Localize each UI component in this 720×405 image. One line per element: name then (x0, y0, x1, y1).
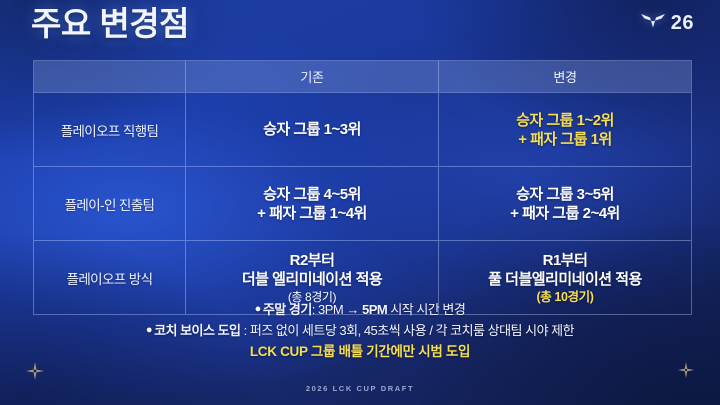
note-weekend-tail: 시작 시간 변경 (387, 302, 465, 317)
row-label-cell: 플레이오프 직행팀 (34, 93, 185, 166)
sparkle-star-right-icon (678, 362, 694, 383)
sparkle-star-left-icon (26, 362, 44, 385)
note-coachvoice-label: 코치 보이스 도입 (154, 323, 240, 338)
row-existing-cell: 승자 그룹 1~3위 (185, 93, 438, 166)
row-changed-cell: 승자 그룹 3~5위 + 패자 그룹 2~4위 (438, 167, 691, 240)
brand-year: 26 (671, 13, 694, 33)
notes-block: ●주말 경기: 3PM → 5PM 시작 시간 변경 ●코치 보이스 도입 : … (0, 299, 720, 362)
table-header-cell-changed: 변경 (438, 61, 691, 92)
table-row: 플레이오프 직행팀 승자 그룹 1~3위 승자 그룹 1~2위 + 패자 그룹 … (34, 92, 691, 166)
table-header-cell-existing: 기존 (185, 61, 438, 92)
comparison-table: 기존 변경 플레이오프 직행팀 승자 그룹 1~3위 승자 그룹 1~2위 + … (33, 60, 692, 315)
footer-caption: 2026 LCK CUP DRAFT (0, 384, 720, 393)
note-line-trial: LCK CUP 그룹 배틀 기간에만 시범 도입 (0, 341, 720, 362)
table-header-row: 기존 변경 (34, 61, 691, 92)
note-weekend-newtime: 5PM (362, 302, 387, 317)
note-weekend-label: 주말 경기 (263, 302, 312, 317)
note-coachvoice-tail: : 퍼즈 없이 세트당 3회, 45초씩 사용 / 각 코치룸 상대팀 시야 제… (241, 323, 575, 338)
table-row: 플레이-인 진출팀 승자 그룹 4~5위 + 패자 그룹 1~4위 승자 그룹 … (34, 166, 691, 240)
row-changed-cell: 승자 그룹 1~2위 + 패자 그룹 1위 (438, 93, 691, 166)
note-line-weekend: ●주말 경기: 3PM → 5PM 시작 시간 변경 (0, 299, 720, 320)
slide-title: 주요 변경점 (31, 3, 189, 45)
table-header-cell-blank (34, 61, 185, 92)
slide-canvas: 주요 변경점 26 기존 변경 플레이오프 직행팀 (0, 0, 720, 405)
row-label-cell: 플레이-인 진출팀 (34, 167, 185, 240)
bullet-icon: ● (146, 324, 152, 336)
row-existing-cell: 승자 그룹 4~5위 + 패자 그룹 1~4위 (185, 167, 438, 240)
note-weekend-mid: : 3PM → (312, 302, 362, 317)
bullet-icon: ● (255, 303, 261, 315)
note-line-coachvoice: ●코치 보이스 도입 : 퍼즈 없이 세트당 3회, 45초씩 사용 / 각 코… (0, 320, 720, 341)
lck-wing-logo-icon (640, 11, 666, 34)
brand-logo: 26 (640, 11, 694, 34)
